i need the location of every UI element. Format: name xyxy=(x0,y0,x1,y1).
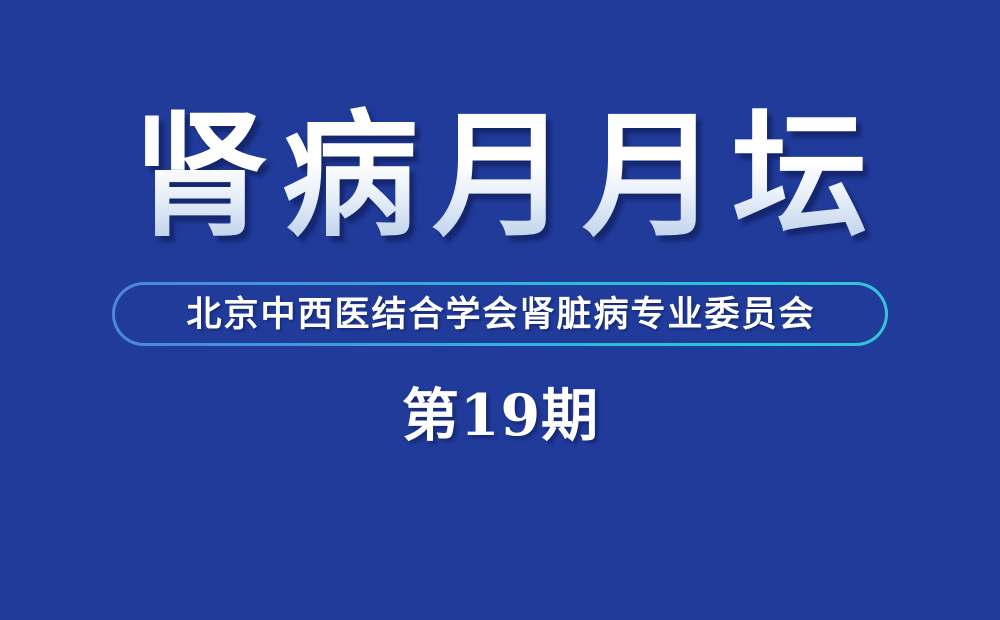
page-title: 肾病月月坛 xyxy=(118,104,882,248)
subtitle-pill-border: 北京中西医结合学会肾脏病专业委员会 xyxy=(112,282,888,346)
issue-number-label: 第19期 xyxy=(401,384,599,449)
organization-subtitle: 北京中西医结合学会肾脏病专业委员会 xyxy=(184,297,815,332)
subtitle-pill-inner: 北京中西医结合学会肾脏病专业委员会 xyxy=(115,285,885,343)
poster-slide: 肾病月月坛 北京中西医结合学会肾脏病专业委员会 第19期 xyxy=(0,0,1000,620)
title-container: 肾病月月坛 xyxy=(0,104,1000,248)
issue-number-container: 第19期 xyxy=(0,384,1000,449)
subtitle-pill-container: 北京中西医结合学会肾脏病专业委员会 xyxy=(0,282,1000,346)
